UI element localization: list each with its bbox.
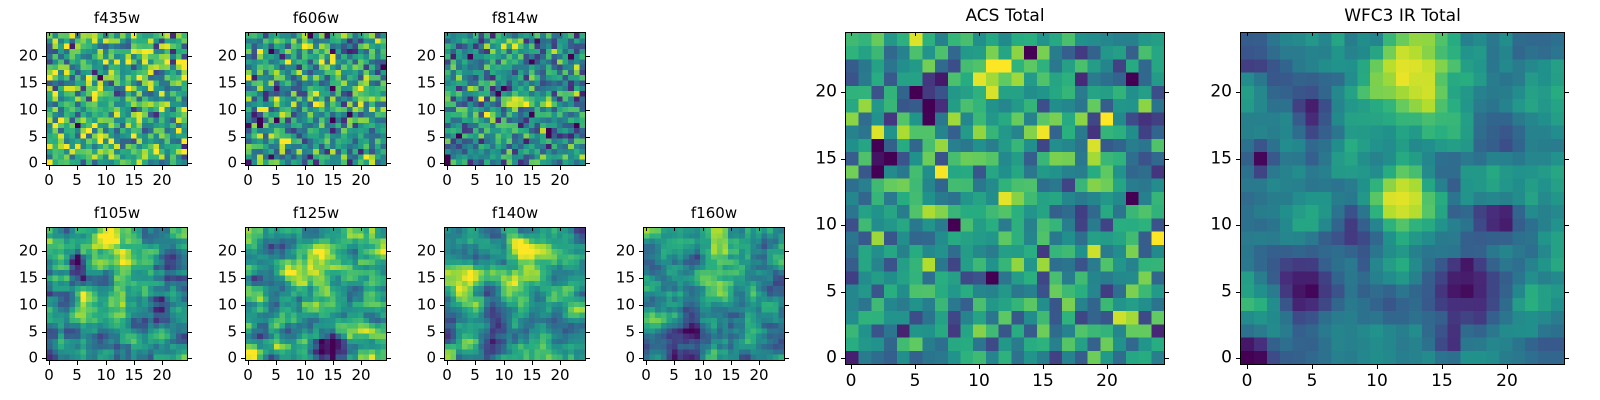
yticklabel-wfc3-ir-total-2: 10 bbox=[1180, 217, 1232, 234]
panel-wfc3-ir-total: WFC3 IR Total0510152005101520 bbox=[0, 0, 1600, 400]
ytick-wfc3-ir-total-1 bbox=[1236, 292, 1240, 293]
yticklabel-wfc3-ir-total-4: 20 bbox=[1180, 84, 1232, 101]
ytick-right-wfc3-ir-total-2 bbox=[1565, 225, 1569, 226]
xtick-wfc3-ir-total-0 bbox=[1247, 365, 1248, 369]
xtick-top-wfc3-ir-total-0 bbox=[1247, 32, 1248, 36]
figure-canvas: f435w0510152005101520f606w05101520051015… bbox=[0, 0, 1600, 400]
heatmap-image-wfc3-ir-total bbox=[1241, 33, 1564, 364]
xtick-top-wfc3-ir-total-4 bbox=[1507, 32, 1508, 36]
xticklabel-wfc3-ir-total-4: 20 bbox=[1496, 373, 1518, 390]
xticklabel-wfc3-ir-total-1: 5 bbox=[1307, 373, 1318, 390]
xticklabel-wfc3-ir-total-2: 10 bbox=[1366, 373, 1388, 390]
ytick-wfc3-ir-total-4 bbox=[1236, 92, 1240, 93]
xtick-wfc3-ir-total-1 bbox=[1312, 365, 1313, 369]
xtick-wfc3-ir-total-4 bbox=[1507, 365, 1508, 369]
yticklabel-wfc3-ir-total-3: 15 bbox=[1180, 151, 1232, 168]
panel-title-wfc3-ir-total: WFC3 IR Total bbox=[1240, 8, 1565, 25]
ytick-right-wfc3-ir-total-1 bbox=[1565, 292, 1569, 293]
ytick-right-wfc3-ir-total-3 bbox=[1565, 159, 1569, 160]
ytick-wfc3-ir-total-3 bbox=[1236, 159, 1240, 160]
xtick-wfc3-ir-total-2 bbox=[1377, 365, 1378, 369]
heatmap-axes-wfc3-ir-total bbox=[1240, 32, 1565, 365]
xticklabel-wfc3-ir-total-0: 0 bbox=[1242, 373, 1253, 390]
xtick-top-wfc3-ir-total-3 bbox=[1442, 32, 1443, 36]
xticklabel-wfc3-ir-total-3: 15 bbox=[1431, 373, 1453, 390]
yticklabel-wfc3-ir-total-1: 5 bbox=[1180, 284, 1232, 301]
xtick-top-wfc3-ir-total-1 bbox=[1312, 32, 1313, 36]
yticklabel-wfc3-ir-total-0: 0 bbox=[1180, 350, 1232, 367]
ytick-wfc3-ir-total-0 bbox=[1236, 358, 1240, 359]
ytick-wfc3-ir-total-2 bbox=[1236, 225, 1240, 226]
xtick-top-wfc3-ir-total-2 bbox=[1377, 32, 1378, 36]
xtick-wfc3-ir-total-3 bbox=[1442, 365, 1443, 369]
ytick-right-wfc3-ir-total-4 bbox=[1565, 92, 1569, 93]
ytick-right-wfc3-ir-total-0 bbox=[1565, 358, 1569, 359]
